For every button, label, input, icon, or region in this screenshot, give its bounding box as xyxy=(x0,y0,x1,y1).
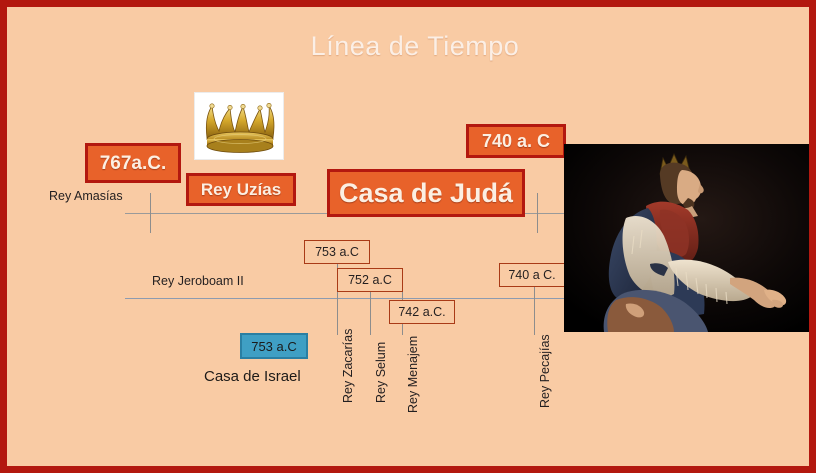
seated-king-painting xyxy=(564,144,814,332)
judah-king-uzias-box[interactable]: Rey Uzías xyxy=(186,173,296,206)
judah-tick-amasias xyxy=(150,193,151,233)
israel-date-box-menajem[interactable]: 742 a.C. xyxy=(389,300,455,324)
gold-crown-image xyxy=(195,93,283,159)
israel-house-label: Casa de Israel xyxy=(204,368,301,385)
judah-king-amasias-label: Rey Amasías xyxy=(49,189,123,203)
israel-date-box-zacarias[interactable]: 753 a.C xyxy=(304,240,370,264)
israel-king-zacarias-label: Rey Zacarías xyxy=(341,329,355,403)
israel-tick-zacarias xyxy=(337,255,338,335)
judah-house-box[interactable]: Casa de Judá xyxy=(327,169,525,217)
israel-date-box-selum[interactable]: 752 a.C xyxy=(337,268,403,292)
israel-king-pecajias-label: Rey Pecajías xyxy=(538,334,552,408)
judah-tick-end xyxy=(537,193,538,233)
judah-start-date-box[interactable]: 767a.C. xyxy=(85,143,181,183)
timeline-slide: Línea de Tiempo Rey Amasías 767a.C. Rey … xyxy=(0,0,816,473)
page-title: Línea de Tiempo xyxy=(7,31,816,62)
israel-date-box-pecajias[interactable]: 740 a C. xyxy=(499,263,565,287)
israel-king-menajem-label: Rey Menajem xyxy=(406,336,420,413)
israel-king-selum-label: Rey Selum xyxy=(374,342,388,403)
israel-tick-pecajias xyxy=(534,279,535,335)
israel-timeline-axis xyxy=(125,298,565,299)
israel-king-jeroboam-label: Rey Jeroboam II xyxy=(152,274,244,288)
israel-legend-date-box[interactable]: 753 a.C xyxy=(240,333,308,359)
judah-end-date-box[interactable]: 740 a. C xyxy=(466,124,566,158)
